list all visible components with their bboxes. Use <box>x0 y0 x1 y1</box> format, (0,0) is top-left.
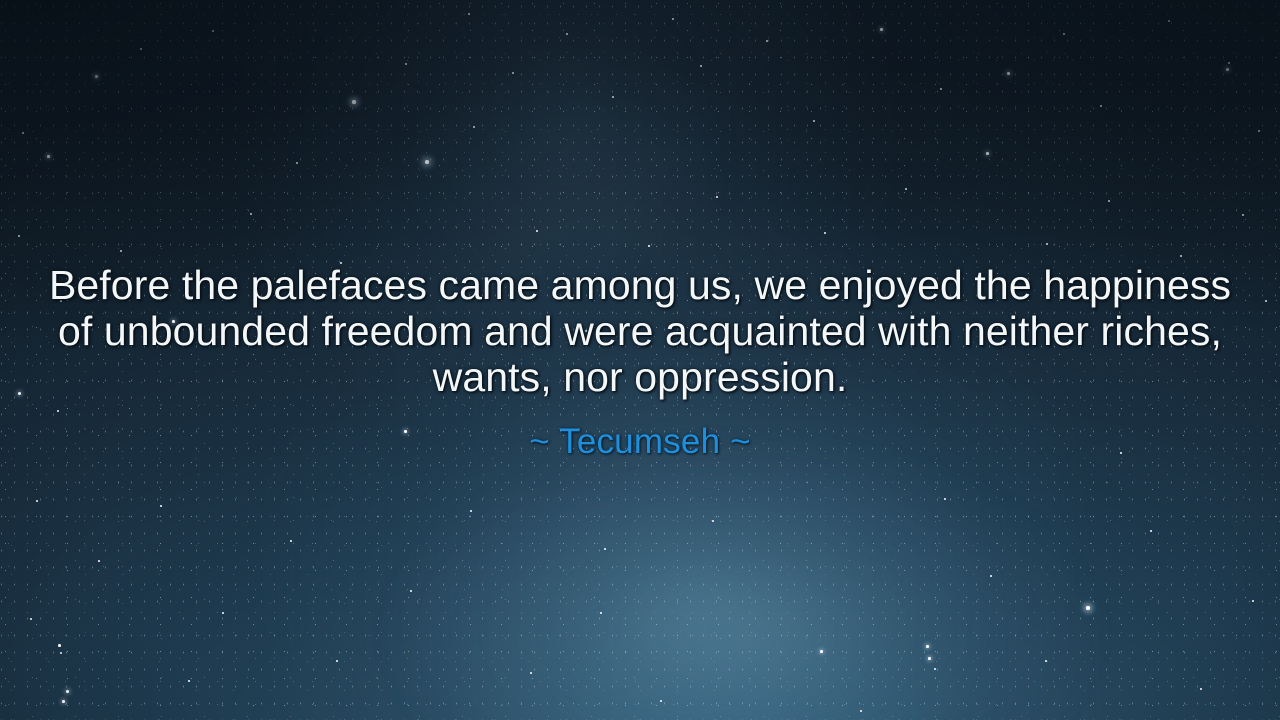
quote-text: Before the palefaces came among us, we e… <box>48 262 1232 400</box>
quote-line-2: of unbounded freedom and were acquainted… <box>48 308 1232 354</box>
quote-image-canvas: Before the palefaces came among us, we e… <box>0 0 1280 720</box>
quote-line-3: wants, nor oppression. <box>48 354 1232 400</box>
quote-text-block: Before the palefaces came among us, we e… <box>0 262 1280 462</box>
quote-attribution: ~ Tecumseh ~ <box>48 422 1232 462</box>
quote-line-1: Before the palefaces came among us, we e… <box>48 262 1232 308</box>
